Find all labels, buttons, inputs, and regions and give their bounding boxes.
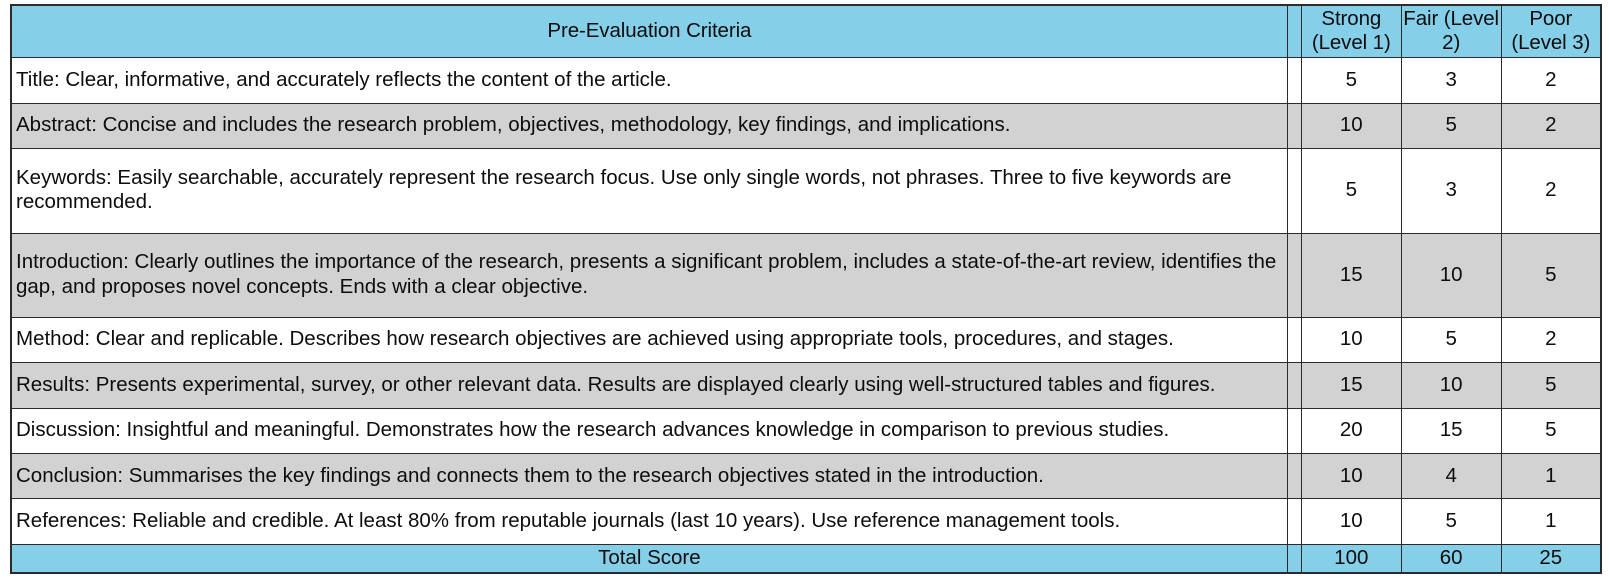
total-score-strong: 100 (1301, 544, 1401, 573)
spacer-cell (1287, 233, 1301, 317)
criteria-cell: Introduction: Clearly outlines the impor… (11, 233, 1287, 317)
total-score-spacer (1287, 544, 1301, 573)
column-header-fair: Fair (Level 2) (1401, 5, 1501, 58)
criteria-cell: Abstract: Concise and includes the resea… (11, 103, 1287, 148)
score-cell-poor: 5 (1501, 408, 1601, 453)
total-score-row: Total Score 100 60 25 (11, 544, 1601, 573)
table-row: Method: Clear and replicable. Describes … (11, 317, 1601, 362)
criteria-cell: Conclusion: Summarises the key findings … (11, 454, 1287, 499)
table-row: Discussion: Insightful and meaningful. D… (11, 408, 1601, 453)
score-cell-strong: 20 (1301, 408, 1401, 453)
score-cell-strong: 5 (1301, 149, 1401, 233)
score-cell-fair: 3 (1401, 58, 1501, 103)
spacer-cell (1287, 103, 1301, 148)
evaluation-table-container: Pre-Evaluation Criteria Strong (Level 1)… (0, 0, 1610, 580)
spacer-cell (1287, 408, 1301, 453)
column-header-spacer (1287, 5, 1301, 58)
criteria-cell: Title: Clear, informative, and accuratel… (11, 58, 1287, 103)
score-cell-strong: 15 (1301, 363, 1401, 408)
score-cell-poor: 2 (1501, 58, 1601, 103)
score-cell-fair: 10 (1401, 233, 1501, 317)
criteria-cell: References: Reliable and credible. At le… (11, 499, 1287, 544)
table-body: Title: Clear, informative, and accuratel… (11, 58, 1601, 544)
table-row: Results: Presents experimental, survey, … (11, 363, 1601, 408)
score-cell-strong: 15 (1301, 233, 1401, 317)
table-row: Conclusion: Summarises the key findings … (11, 454, 1601, 499)
criteria-cell: Method: Clear and replicable. Describes … (11, 317, 1287, 362)
score-cell-strong: 10 (1301, 499, 1401, 544)
score-cell-strong: 5 (1301, 58, 1401, 103)
score-cell-fair: 4 (1401, 454, 1501, 499)
score-cell-poor: 5 (1501, 233, 1601, 317)
score-cell-strong: 10 (1301, 317, 1401, 362)
criteria-cell: Discussion: Insightful and meaningful. D… (11, 408, 1287, 453)
column-header-strong: Strong (Level 1) (1301, 5, 1401, 58)
score-cell-fair: 5 (1401, 499, 1501, 544)
score-cell-poor: 5 (1501, 363, 1601, 408)
score-cell-fair: 5 (1401, 103, 1501, 148)
score-cell-fair: 5 (1401, 317, 1501, 362)
header-row: Pre-Evaluation Criteria Strong (Level 1)… (11, 5, 1601, 58)
table-row: Introduction: Clearly outlines the impor… (11, 233, 1601, 317)
column-header-criteria: Pre-Evaluation Criteria (11, 5, 1287, 58)
table-footer: Total Score 100 60 25 (11, 544, 1601, 573)
criteria-cell: Keywords: Easily searchable, accurately … (11, 149, 1287, 233)
table-row: References: Reliable and credible. At le… (11, 499, 1601, 544)
score-cell-strong: 10 (1301, 103, 1401, 148)
total-score-label: Total Score (11, 544, 1287, 573)
pre-evaluation-criteria-table: Pre-Evaluation Criteria Strong (Level 1)… (10, 4, 1602, 574)
total-score-poor: 25 (1501, 544, 1601, 573)
score-cell-poor: 1 (1501, 454, 1601, 499)
column-header-poor: Poor (Level 3) (1501, 5, 1601, 58)
score-cell-fair: 10 (1401, 363, 1501, 408)
score-cell-poor: 2 (1501, 103, 1601, 148)
score-cell-poor: 2 (1501, 149, 1601, 233)
table-row: Title: Clear, informative, and accuratel… (11, 58, 1601, 103)
total-score-fair: 60 (1401, 544, 1501, 573)
table-header: Pre-Evaluation Criteria Strong (Level 1)… (11, 5, 1601, 58)
score-cell-fair: 15 (1401, 408, 1501, 453)
score-cell-fair: 3 (1401, 149, 1501, 233)
score-cell-poor: 1 (1501, 499, 1601, 544)
spacer-cell (1287, 499, 1301, 544)
spacer-cell (1287, 454, 1301, 499)
spacer-cell (1287, 363, 1301, 408)
spacer-cell (1287, 58, 1301, 103)
score-cell-strong: 10 (1301, 454, 1401, 499)
spacer-cell (1287, 317, 1301, 362)
table-row: Abstract: Concise and includes the resea… (11, 103, 1601, 148)
spacer-cell (1287, 149, 1301, 233)
table-row: Keywords: Easily searchable, accurately … (11, 149, 1601, 233)
score-cell-poor: 2 (1501, 317, 1601, 362)
criteria-cell: Results: Presents experimental, survey, … (11, 363, 1287, 408)
